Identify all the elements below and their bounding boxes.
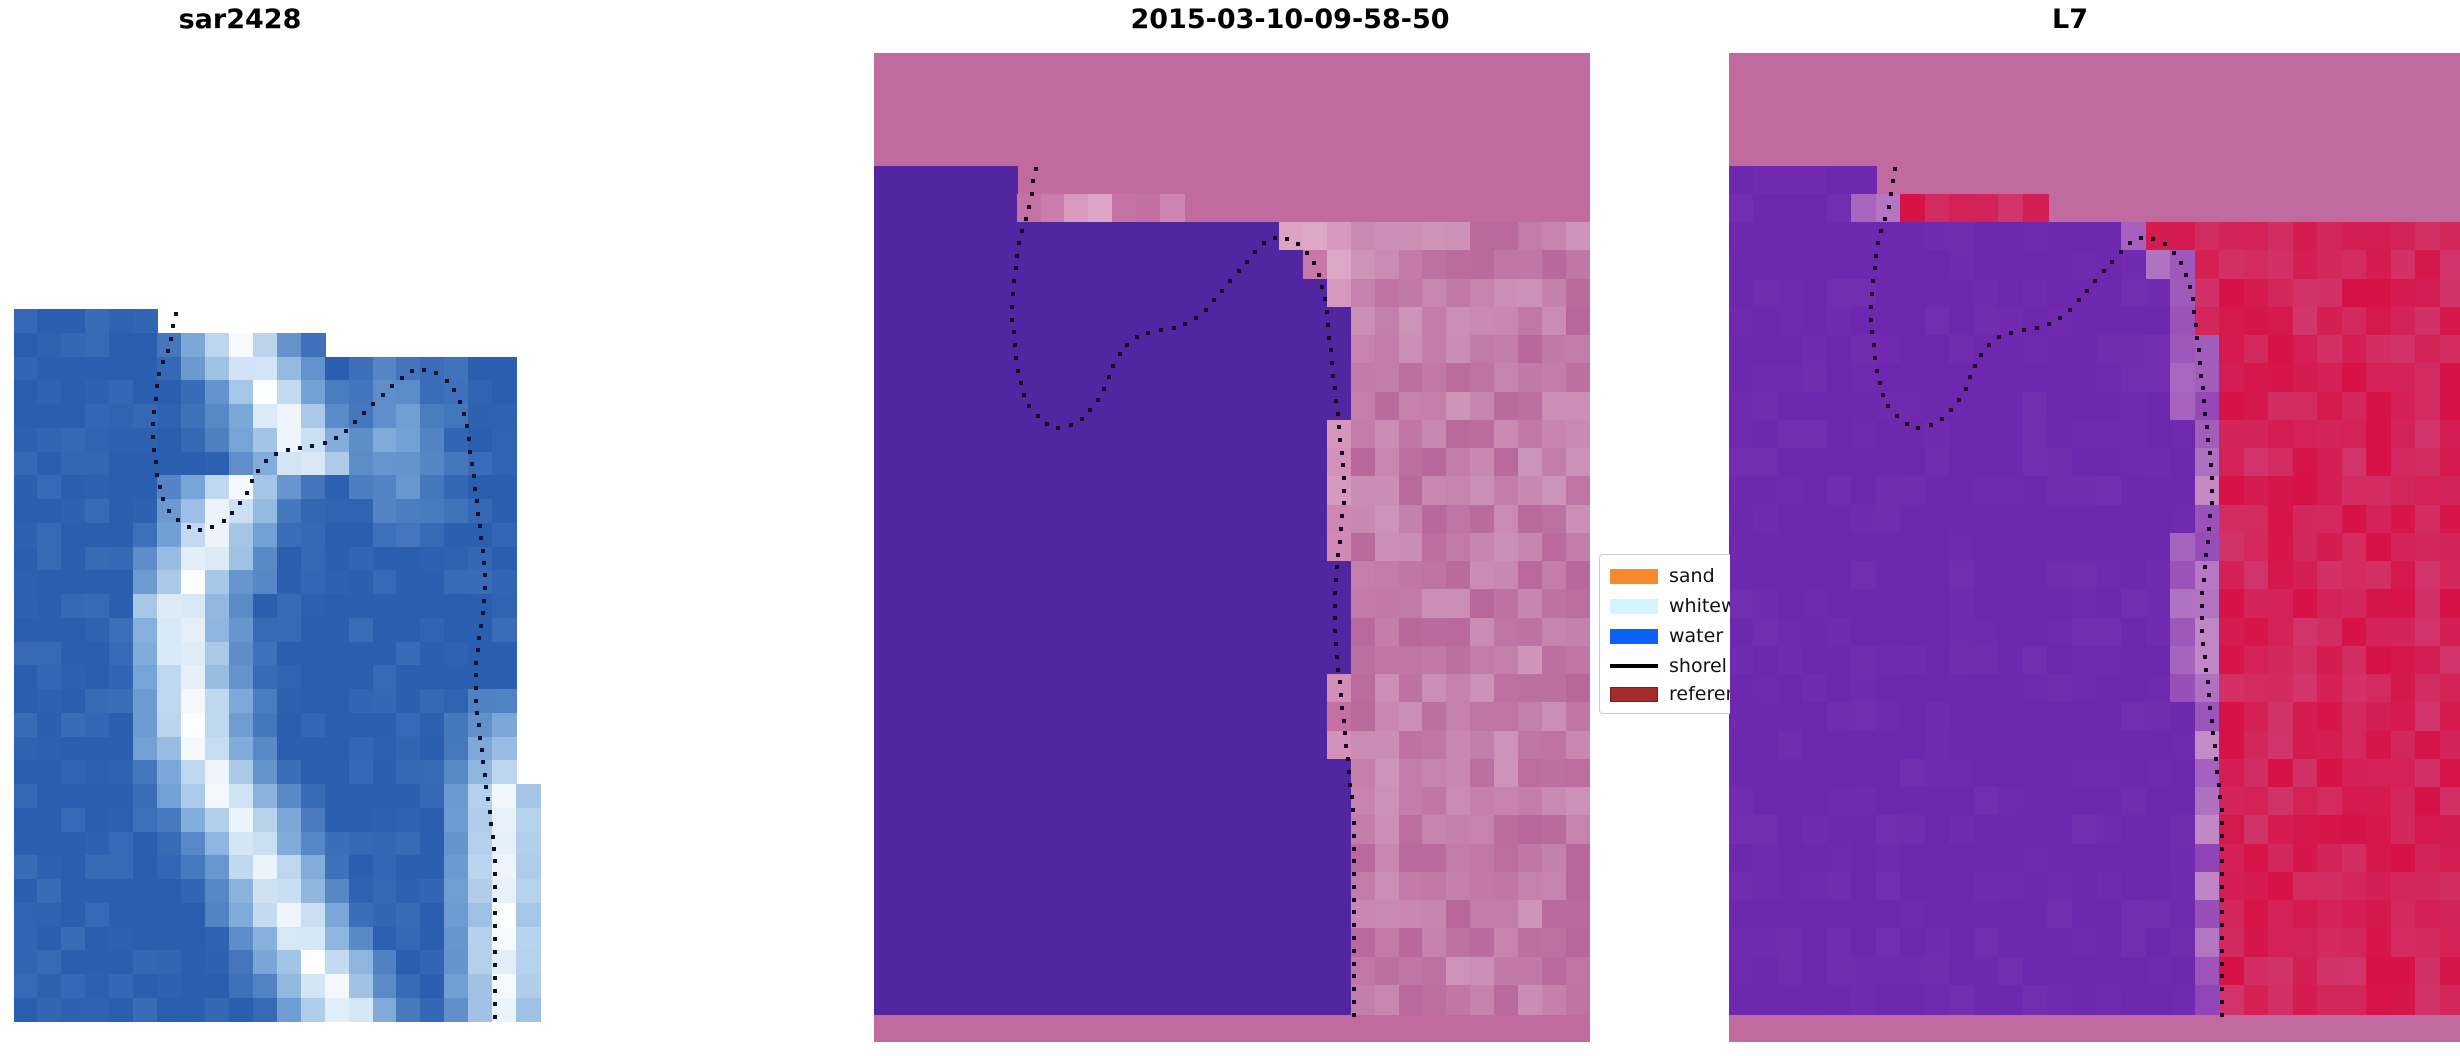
legend-box: sand whitew water shorel referen: [1599, 554, 1730, 714]
shoreline-line-swatch: [1610, 664, 1658, 668]
raster-2015-03-10-09-58-50: [874, 53, 1590, 1042]
legend-item-shoreline[interactable]: shorel: [1610, 653, 1730, 679]
whitewater-swatch: [1610, 599, 1658, 614]
reference-swatch: [1610, 687, 1658, 702]
legend: sand whitew water shorel referen: [1599, 554, 1730, 714]
legend-item-reference[interactable]: referen: [1610, 681, 1730, 707]
legend-label-reference: referen: [1669, 682, 1730, 706]
raster-sar2428: [14, 262, 732, 1022]
panel-title-sar2428: sar2428: [0, 6, 480, 33]
panel-sar2428: sar2428: [0, 0, 760, 1056]
legend-item-water[interactable]: water: [1610, 623, 1730, 649]
water-swatch: [1610, 629, 1658, 644]
panel-l7: L7: [1600, 0, 2460, 1056]
panel-title-2015-03-10-09-58-50: 2015-03-10-09-58-50: [1030, 6, 1550, 33]
legend-label-whitewater: whitew: [1669, 594, 1730, 618]
legend-item-sand[interactable]: sand: [1610, 563, 1730, 589]
legend-label-water: water: [1669, 624, 1723, 648]
legend-label-sand: sand: [1669, 564, 1715, 588]
panel-title-l7: L7: [1850, 6, 2290, 33]
sand-swatch: [1610, 569, 1658, 584]
panel-2015-03-10-09-58-50: 2015-03-10-09-58-50: [760, 0, 1600, 1056]
legend-label-shoreline: shorel: [1669, 654, 1727, 678]
legend-item-whitewater[interactable]: whitew: [1610, 593, 1730, 619]
raster-l7: [1729, 53, 2460, 1042]
